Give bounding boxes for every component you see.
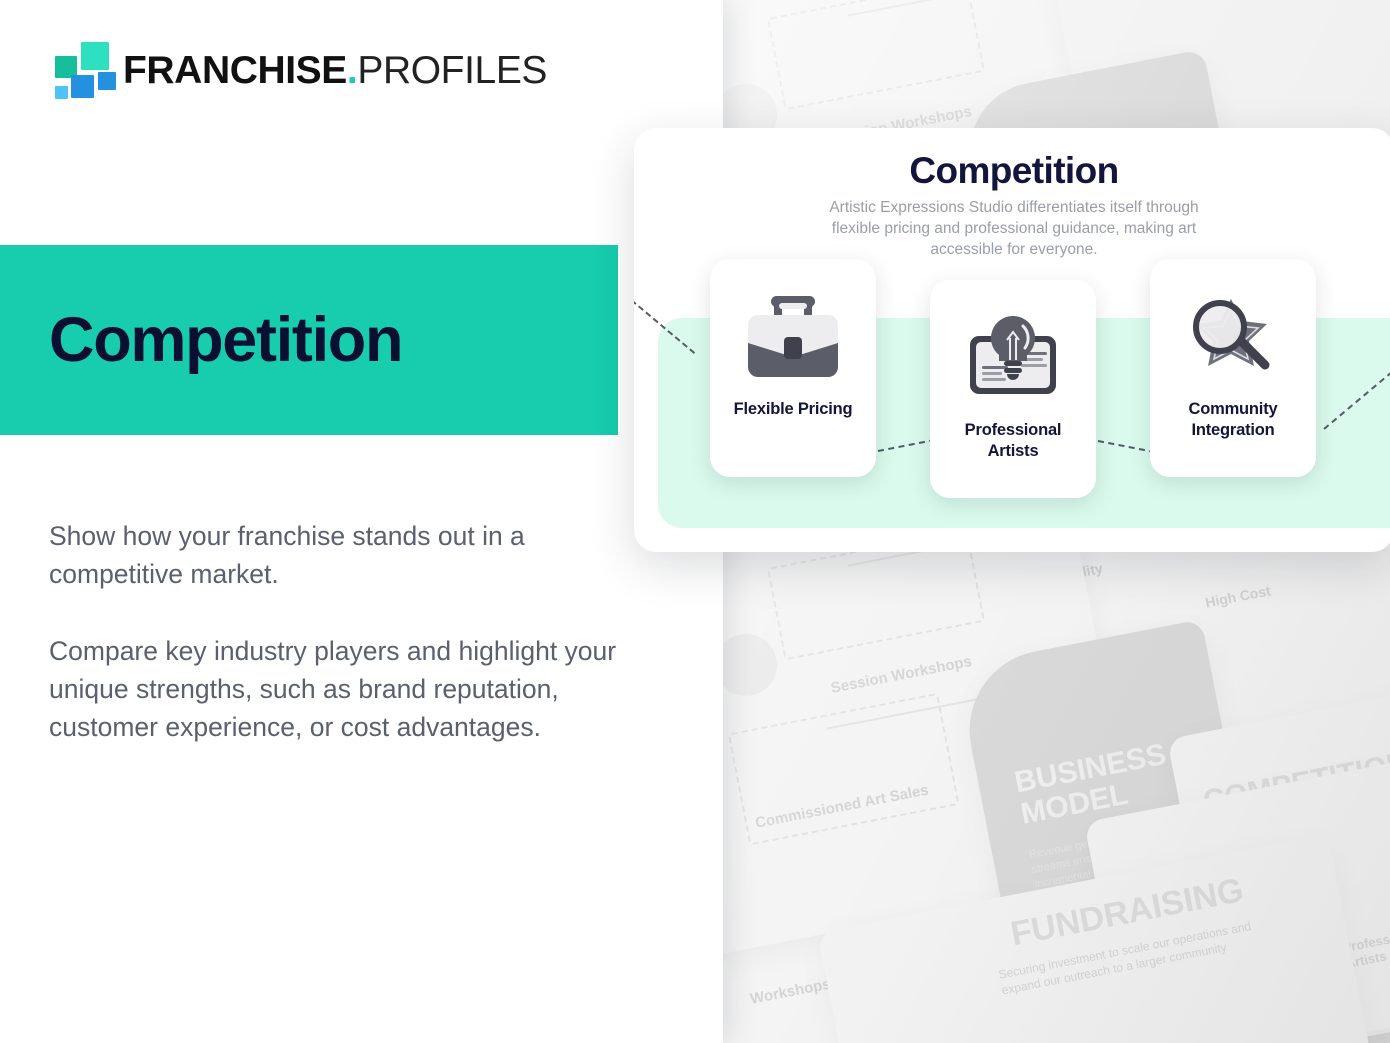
description-paragraph-1: Show how your franchise stands out in a …: [49, 518, 629, 593]
section-banner: Competition: [0, 245, 618, 435]
brand-name-bold: FRANCHISE: [123, 49, 347, 92]
lightbulb-board-icon: [961, 304, 1065, 416]
feature-card-row: Flexible Pricing: [634, 128, 1390, 552]
brand-wordmark: FRANCHISE.PROFILES: [123, 51, 547, 90]
feature-card-professional-artists[interactable]: Professional Artists: [930, 280, 1096, 498]
feature-label: Professional Artists: [930, 420, 1096, 463]
feature-label: Flexible Pricing: [726, 399, 861, 420]
feature-card-community-integration[interactable]: Community Integration: [1150, 259, 1316, 477]
brand-name-light: PROFILES: [357, 49, 547, 92]
description-block: Show how your franchise stands out in a …: [49, 518, 629, 746]
feature-label: Community Integration: [1150, 399, 1316, 442]
page-title: Competition: [49, 309, 402, 372]
brand-logo[interactable]: FRANCHISE.PROFILES: [49, 42, 547, 98]
briefcase-icon: [741, 283, 845, 395]
description-paragraph-2: Compare key industry players and highlig…: [49, 633, 629, 746]
brand-name-dot: .: [347, 49, 357, 92]
magnifier-star-icon: [1181, 283, 1285, 395]
squares-logo-icon: [49, 42, 107, 98]
feature-card-flexible-pricing[interactable]: Flexible Pricing: [710, 259, 876, 477]
slide-preview-card[interactable]: Competition Artistic Expressions Studio …: [634, 128, 1390, 552]
left-panel: FRANCHISE.PROFILES Show how your franchi…: [0, 0, 723, 1043]
